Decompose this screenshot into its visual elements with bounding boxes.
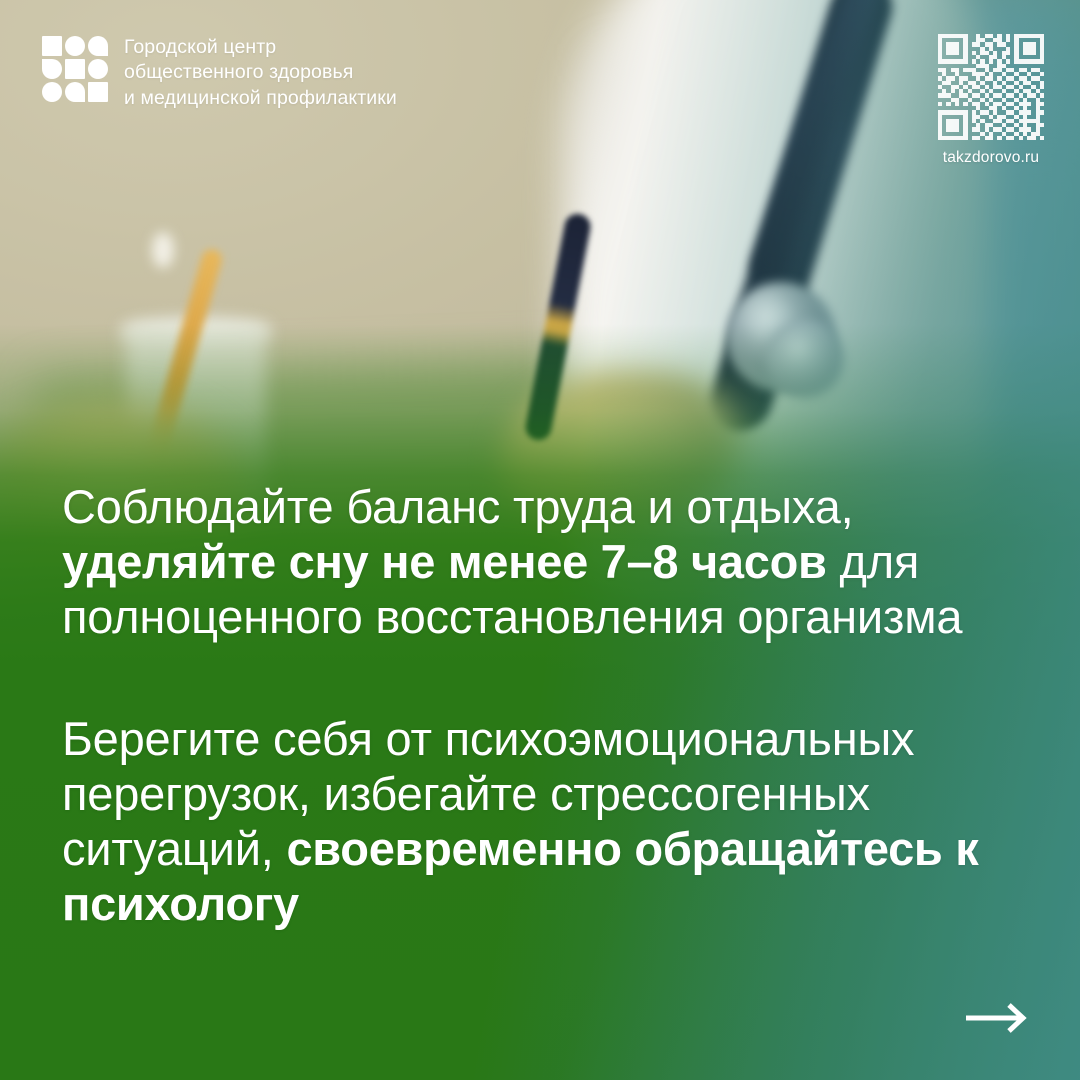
qr-url-label: takzdorovo.ru [943, 149, 1040, 167]
arrow-right-icon [964, 1003, 1030, 1033]
next-slide-button[interactable] [960, 996, 1034, 1040]
poster-header: Городской центр общественного здоровья и… [0, 0, 1080, 170]
poster-canvas: Городской центр общественного здоровья и… [0, 0, 1080, 1080]
brand-name-line-3: и медицинской профилактики [124, 86, 397, 111]
logo-shape-circle-3 [42, 82, 62, 102]
photo-pencil-eraser [152, 232, 174, 268]
paragraph-stress-psychologist: Берегите себя от психоэмоциональных пере… [62, 711, 1010, 932]
qr-code-icon[interactable] [938, 34, 1044, 140]
text-run-0: Соблюдайте баланс труда и отдыха, [62, 480, 853, 533]
logo-shape-square-3 [88, 82, 108, 102]
logo-shape-square-1 [42, 36, 62, 56]
message-block: Соблюдайте баланс труда и отдыха, уделяй… [62, 432, 1010, 979]
emphasis-run-1: уделяйте сну не менее 7–8 часов [62, 535, 827, 588]
logo-shape-drop-1 [88, 36, 108, 56]
logo-shape-circle-1 [65, 36, 85, 56]
brand-name-line-2: общественного здоровья [124, 60, 397, 85]
logo-shape-drop-3 [65, 82, 85, 102]
photo-stethoscope-head-2 [766, 320, 844, 398]
logo-shape-drop-2 [42, 59, 62, 79]
logo-shape-square-2 [65, 59, 85, 79]
logo-shape-circle-2 [88, 59, 108, 79]
logo-grid-icon [42, 36, 108, 102]
qr-block[interactable]: takzdorovo.ru [938, 34, 1044, 167]
brand-name: Городской центр общественного здоровья и… [124, 34, 397, 111]
brand-lockup: Городской центр общественного здоровья и… [42, 34, 397, 111]
brand-name-line-1: Городской центр [124, 35, 397, 60]
paragraph-sleep-balance: Соблюдайте баланс труда и отдыха, уделяй… [62, 479, 1010, 645]
